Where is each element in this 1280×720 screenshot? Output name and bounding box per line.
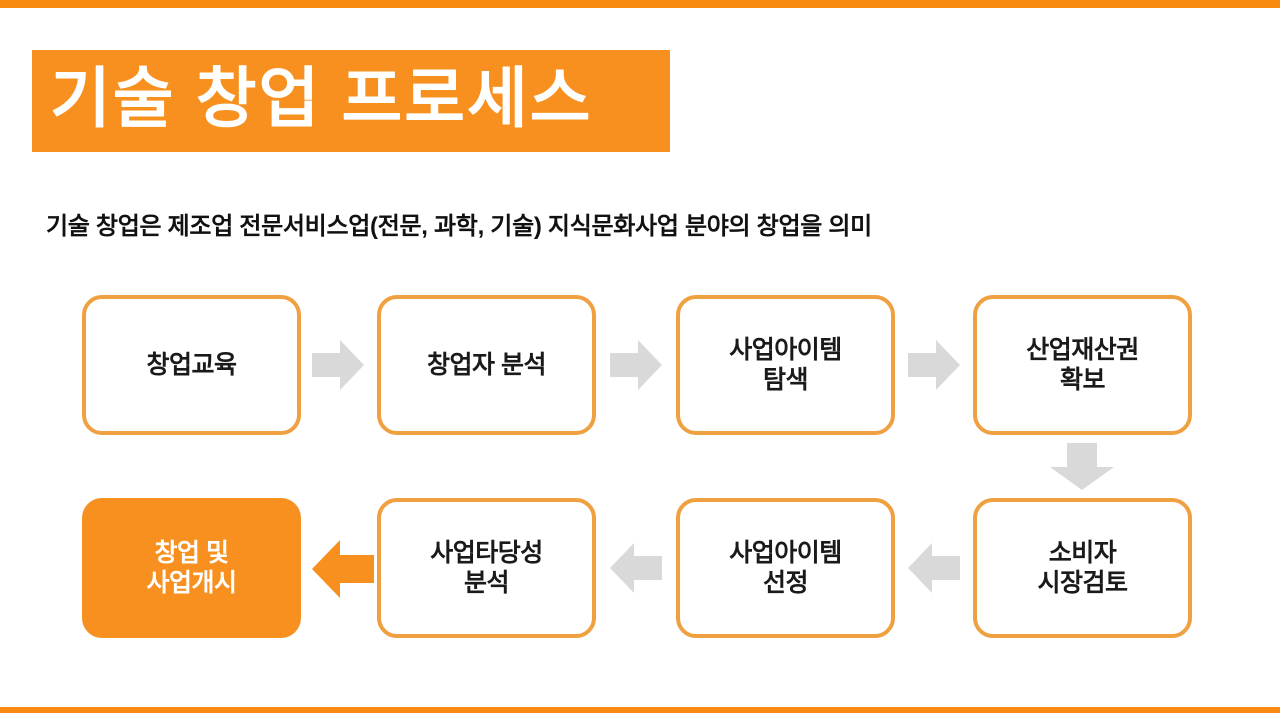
process-node-5[interactable]: 소비자 시장검토 [973,498,1192,638]
process-node-1[interactable]: 창업교육 [82,295,301,435]
top-accent-bar [0,0,1280,8]
process-node-7[interactable]: 사업타당성 분석 [377,498,596,638]
process-node-label: 사업타당성 분석 [430,538,543,599]
page-title-block: 기술 창업 프로세스 [32,50,670,152]
process-node-label: 사업아이템 탐색 [729,335,842,396]
page-title: 기술 창업 프로세스 [50,65,592,131]
process-node-3[interactable]: 사업아이템 탐색 [676,295,895,435]
process-node-2[interactable]: 창업자 분석 [377,295,596,435]
arrow-left-icon [610,541,662,595]
bottom-accent-bar [0,707,1280,713]
arrow-right-icon [908,338,960,392]
process-node-label: 창업교육 [146,350,236,381]
process-node-label: 창업 및 사업개시 [146,538,236,599]
arrow-left-icon [908,541,960,595]
arrow-left-highlight-icon [312,537,374,601]
arrow-right-icon [312,338,364,392]
arrow-right-icon [610,338,662,392]
slide-canvas: 기술 창업 프로세스 기술 창업은 제조업 전문서비스업(전문, 과학, 기술)… [0,0,1280,720]
process-node-label: 사업아이템 선정 [729,538,842,599]
process-node-4[interactable]: 산업재산권 확보 [973,295,1192,435]
process-node-label: 산업재산권 확보 [1026,335,1139,396]
arrow-down-icon [1048,443,1116,491]
process-node-6[interactable]: 사업아이템 선정 [676,498,895,638]
process-node-label: 소비자 시장검토 [1037,538,1127,599]
process-node-label: 창업자 분석 [427,350,546,381]
subtitle-text: 기술 창업은 제조업 전문서비스업(전문, 과학, 기술) 지식문화사업 분야의… [46,206,1226,241]
process-node-8[interactable]: 창업 및 사업개시 [82,498,301,638]
